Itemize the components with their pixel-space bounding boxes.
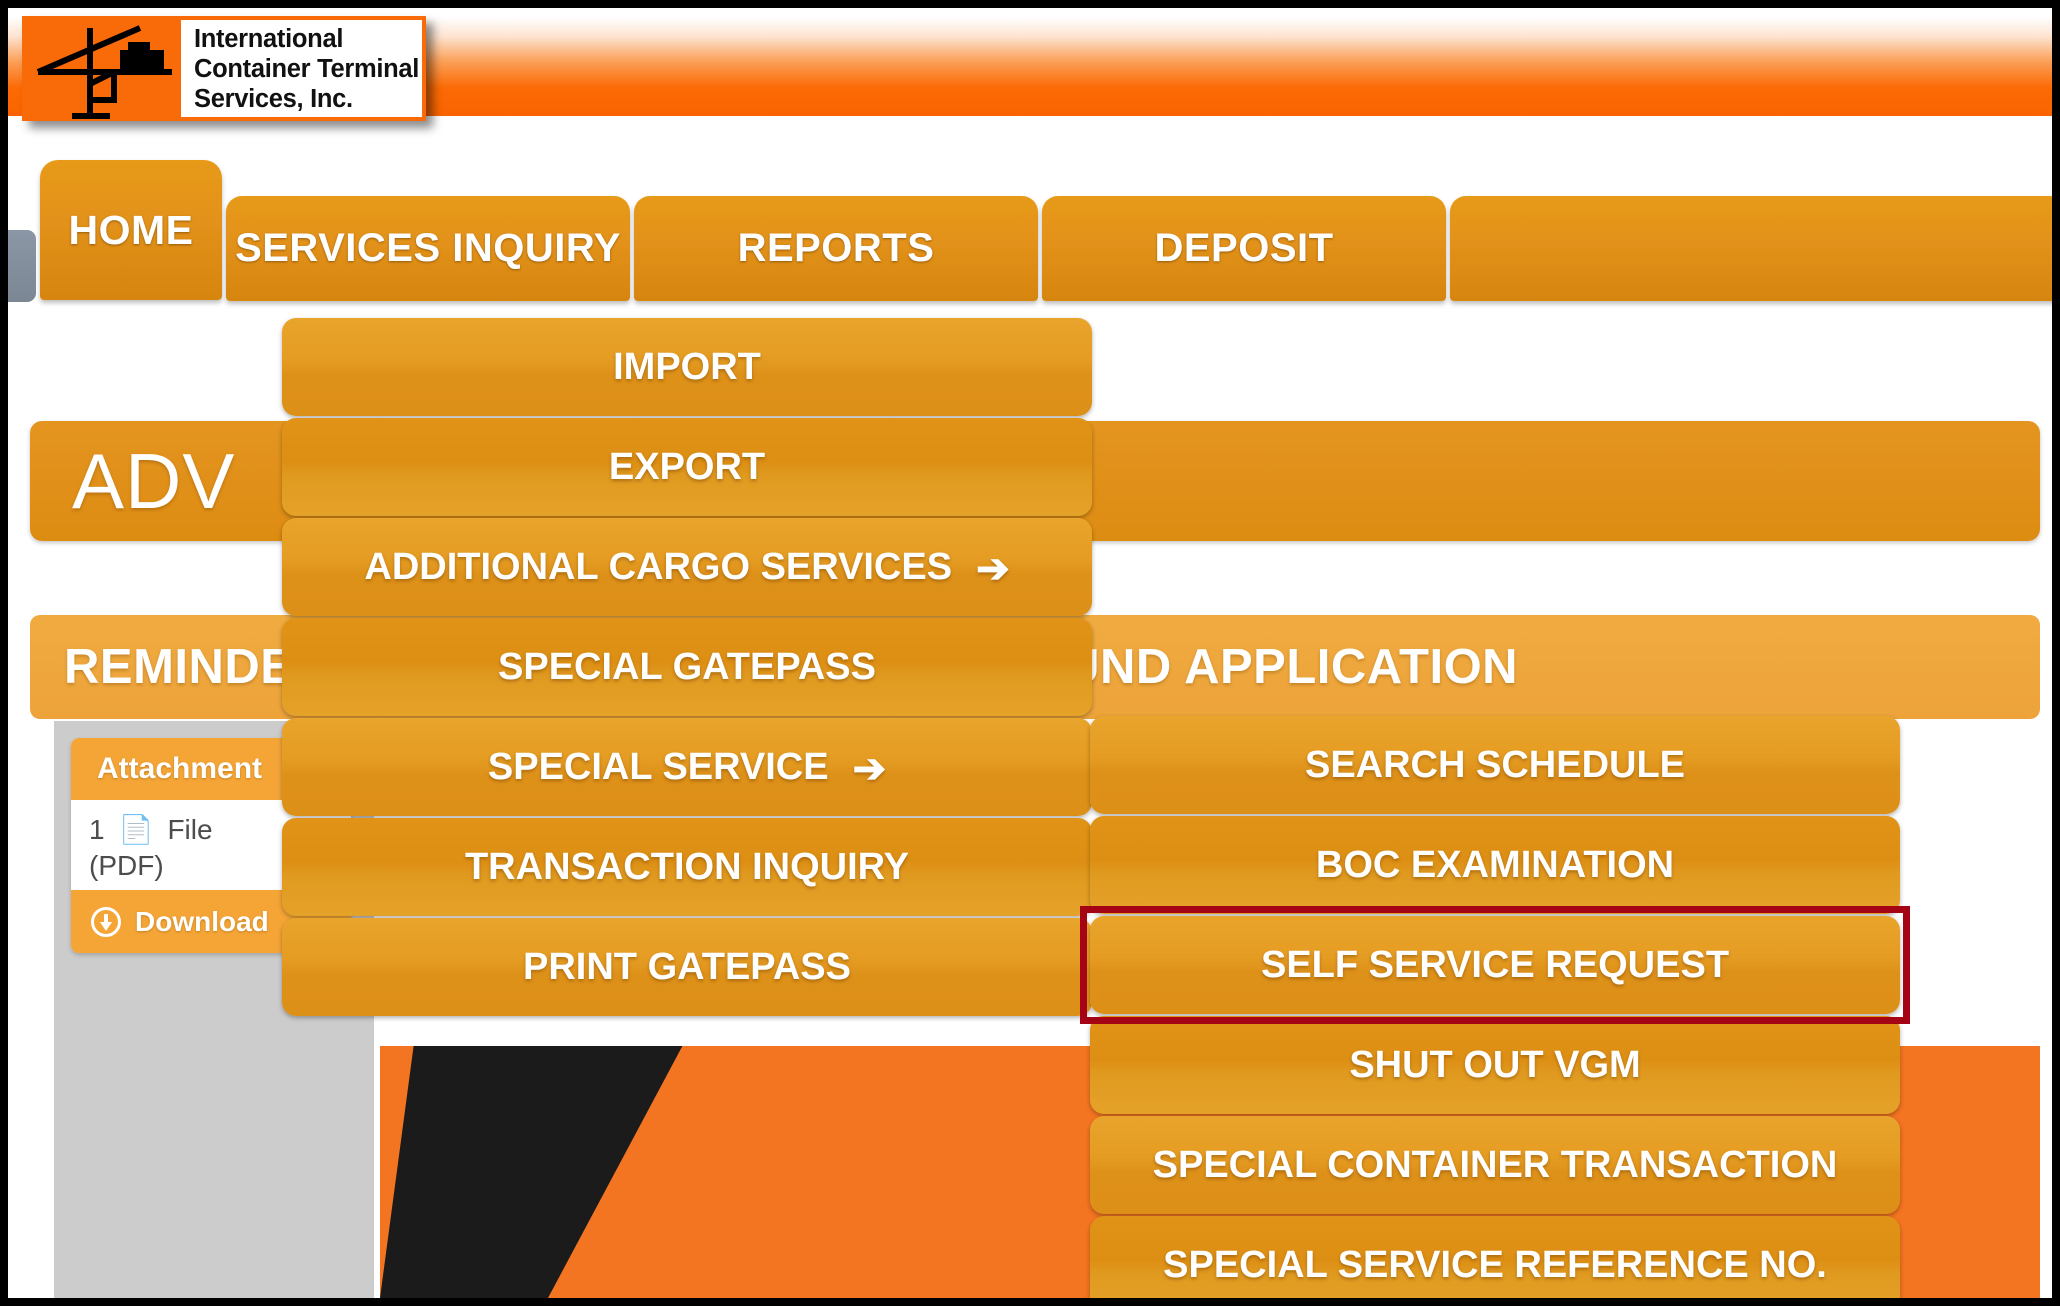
attachment-file-label: File xyxy=(167,812,212,848)
banner-wedge-shape xyxy=(380,1046,800,1298)
menu-item-label: SPECIAL GATEPASS xyxy=(498,646,876,689)
menu-item-export[interactable]: EXPORT xyxy=(282,418,1092,516)
file-icon: 📄 xyxy=(119,812,154,848)
menu-item-label: PRINT GATEPASS xyxy=(523,946,851,989)
logo-line-1: International xyxy=(194,24,422,54)
page-title: ADV xyxy=(30,436,235,527)
menu-item-boc-examination[interactable]: BOC EXAMINATION xyxy=(1090,816,1900,914)
nav-tab-deposit[interactable]: DEPOSIT xyxy=(1042,196,1446,301)
menu-item-special-service-reference-no[interactable]: SPECIAL SERVICE REFERENCE NO. xyxy=(1090,1216,1900,1298)
menu-item-label: SPECIAL SERVICE xyxy=(488,746,829,789)
menu-item-label: SPECIAL CONTAINER TRANSACTION xyxy=(1153,1144,1838,1187)
company-logo[interactable]: International Container Terminal Service… xyxy=(22,16,426,121)
submenu-arrow-icon: ➔ xyxy=(853,749,887,789)
menu-item-transaction-inquiry[interactable]: TRANSACTION INQUIRY xyxy=(282,818,1092,916)
menu-item-import[interactable]: IMPORT xyxy=(282,318,1092,416)
menu-item-additional-cargo-services[interactable]: ADDITIONAL CARGO SERVICES ➔ xyxy=(282,518,1092,616)
crane-icon xyxy=(26,20,181,117)
menu-item-label: SEARCH SCHEDULE xyxy=(1305,744,1685,787)
app-frame: International Container Terminal Service… xyxy=(8,8,2052,1298)
menu-item-special-service[interactable]: SPECIAL SERVICE ➔ xyxy=(282,718,1092,816)
menu-item-special-gatepass[interactable]: SPECIAL GATEPASS xyxy=(282,618,1092,716)
submenu-arrow-icon: ➔ xyxy=(976,549,1010,589)
menu-item-label: SHUT OUT VGM xyxy=(1349,1044,1640,1087)
menu-item-label: BOC EXAMINATION xyxy=(1316,844,1674,887)
attachment-count: 1 xyxy=(89,812,105,848)
menu-item-label: EXPORT xyxy=(609,446,765,489)
menu-item-print-gatepass[interactable]: PRINT GATEPASS xyxy=(282,918,1092,1016)
nav-tab-services-inquiry[interactable]: SERVICES INQUIRY xyxy=(226,196,630,301)
download-icon xyxy=(91,907,121,937)
logo-line-3: Services, Inc. xyxy=(194,84,422,114)
menu-item-label: TRANSACTION INQUIRY xyxy=(465,846,909,889)
nav-tab-reports[interactable]: REPORTS xyxy=(634,196,1038,301)
logo-line-2: Container Terminal xyxy=(194,54,422,84)
menu-item-label: SELF SERVICE REQUEST xyxy=(1261,944,1729,987)
logo-wordmark: International Container Terminal Service… xyxy=(181,20,422,117)
menu-item-shut-out-vgm[interactable]: SHUT OUT VGM xyxy=(1090,1016,1900,1114)
menu-item-label: IMPORT xyxy=(613,346,761,389)
menu-item-label: SPECIAL SERVICE REFERENCE NO. xyxy=(1163,1244,1827,1287)
menu-item-self-service-request[interactable]: SELF SERVICE REQUEST xyxy=(1090,916,1900,1014)
nav-tab-extra[interactable] xyxy=(1450,196,2052,301)
top-bar-underlay xyxy=(8,116,2052,178)
download-label: Download xyxy=(135,906,269,938)
nav-tab-home[interactable]: HOME xyxy=(40,160,222,300)
menu-item-search-schedule[interactable]: SEARCH SCHEDULE xyxy=(1090,716,1900,814)
menu-item-label: ADDITIONAL CARGO SERVICES xyxy=(364,546,952,589)
menu-item-special-container-transaction[interactable]: SPECIAL CONTAINER TRANSACTION xyxy=(1090,1116,1900,1214)
nav-stub-tab[interactable] xyxy=(8,230,36,302)
